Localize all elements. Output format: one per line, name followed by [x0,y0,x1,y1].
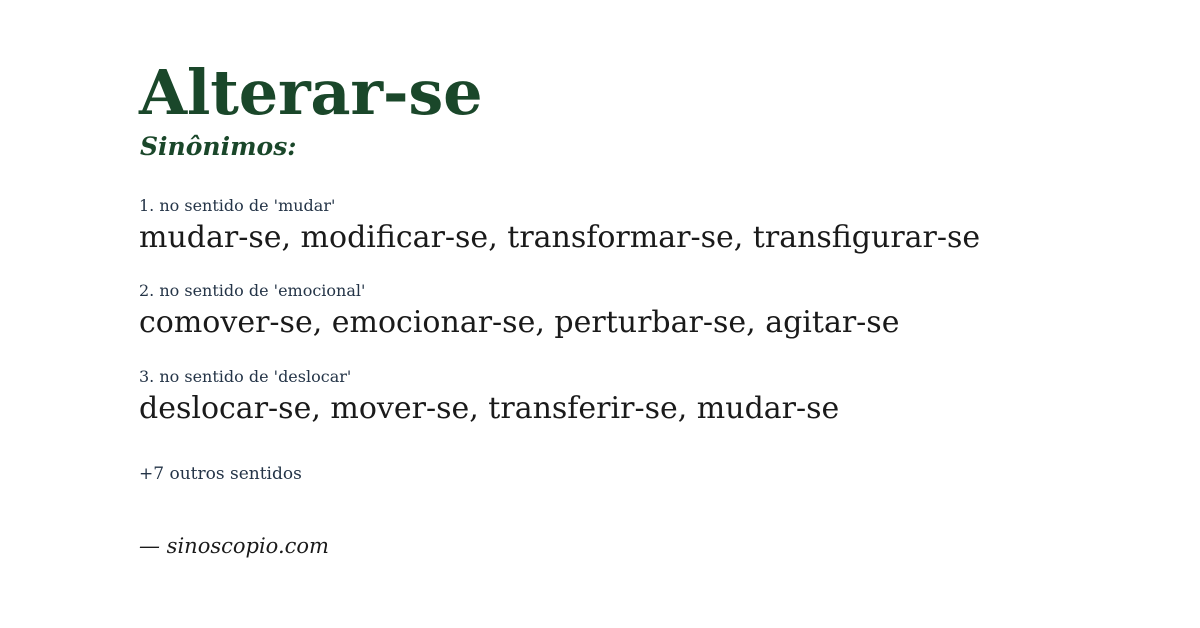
page-title: Alterar-se [139,62,482,124]
more-senses-count: +7 outros sentidos [139,464,302,484]
sense-label-1: 1. no sentido de 'mudar' [139,196,1099,216]
synonym-card: Alterar-se Sinônimos: 1. no sentido de '… [0,0,1200,628]
sense-label-2: 2. no sentido de 'emocional' [139,281,1099,301]
sense-synonyms-2: comover-se, emocionar-se, perturbar-se, … [139,305,1099,340]
subtitle-synonyms-heading: Sinônimos: [140,134,297,159]
source-attribution: — sinoscopio.com [139,534,329,559]
senses-list: 1. no sentido de 'mudar' mudar-se, modif… [139,196,1099,426]
sense-synonyms-1: mudar-se, modificar-se, transformar-se, … [139,220,1099,255]
sense-block-1: 1. no sentido de 'mudar' mudar-se, modif… [139,196,1099,255]
sense-synonyms-3: deslocar-se, mover-se, transferir-se, mu… [139,391,1099,426]
sense-block-2: 2. no sentido de 'emocional' comover-se,… [139,281,1099,340]
sense-label-3: 3. no sentido de 'deslocar' [139,367,1099,387]
sense-block-3: 3. no sentido de 'deslocar' deslocar-se,… [139,367,1099,426]
